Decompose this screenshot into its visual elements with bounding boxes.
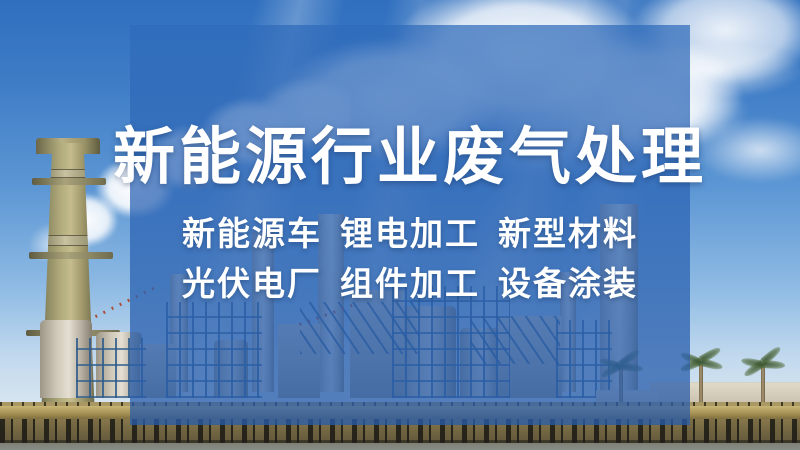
palm-frond — [763, 360, 786, 370]
palm-frond — [700, 358, 723, 371]
subtitle-item: 新型材料 — [498, 215, 638, 252]
subtitle-item: 锂电加工 — [340, 215, 480, 252]
banner-headline: 新能源行业废气处理 — [113, 125, 707, 192]
subtitle-item: 新能源车 — [182, 215, 322, 252]
promo-banner: 新能源行业废气处理 新能源车锂电加工新型材料 光伏电厂组件加工设备涂装 — [0, 0, 800, 450]
smokestack-ring — [32, 178, 106, 185]
subtitle-item: 光伏电厂 — [182, 265, 322, 302]
banner-text-block: 新能源行业废气处理 新能源车锂电加工新型材料 光伏电厂组件加工设备涂装 — [130, 25, 690, 425]
water-line — [0, 443, 800, 450]
banner-subtitle-line-1: 新能源车锂电加工新型材料 — [182, 216, 638, 252]
subtitle-item: 设备涂装 — [498, 265, 638, 302]
subtitle-item: 组件加工 — [340, 265, 480, 302]
banner-subtitle-line-2: 光伏电厂组件加工设备涂装 — [182, 266, 638, 302]
banner-subtitle-list: 新能源车锂电加工新型材料 光伏电厂组件加工设备涂装 — [182, 216, 638, 303]
